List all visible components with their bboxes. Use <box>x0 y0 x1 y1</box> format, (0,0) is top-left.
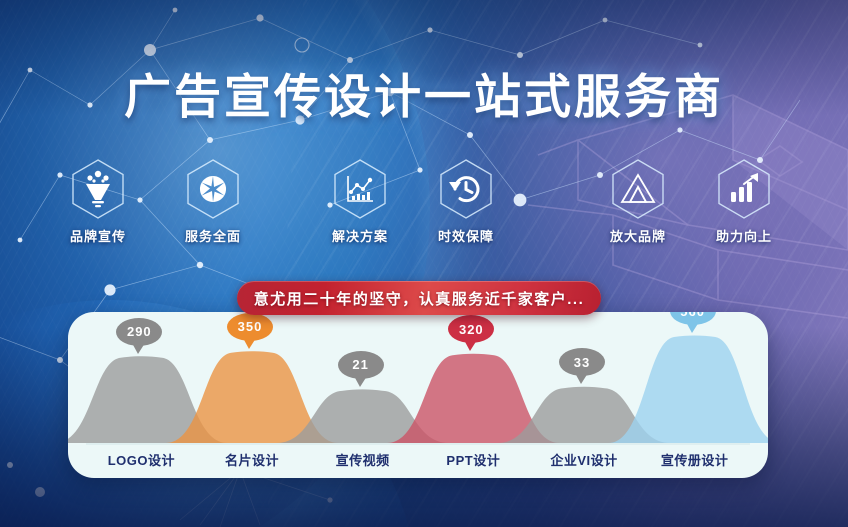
category-label-group: LOGO设计名片设计宣传视频PPT设计企业VI设计宣传册设计 <box>68 446 768 476</box>
feature-item-brand-promotion[interactable]: 品牌宣传 <box>52 158 144 245</box>
tagline-text: 意尤用二十年的坚守，认真服务近千家客户... <box>254 288 585 309</box>
category-label: 企业VI设计 <box>529 450 640 469</box>
value-bubble-tail <box>132 343 145 354</box>
feature-item-boost-upward[interactable]: 助力向上 <box>698 158 790 245</box>
value-bubble-tail <box>354 376 367 387</box>
megaphone-sparkle-icon <box>70 158 126 220</box>
clock-rewind-icon <box>438 158 494 220</box>
mountain-area-5 <box>608 336 768 443</box>
category-label: 宣传视频 <box>307 450 418 469</box>
feature-label: 服务全面 <box>167 226 259 245</box>
feature-icon-row: 品牌宣传 服务全面 <box>0 158 848 250</box>
value-bubble-tail <box>686 322 699 333</box>
tagline-banner: 意尤用二十年的坚守，认真服务近千家客户... <box>237 281 601 315</box>
feature-label: 助力向上 <box>698 226 790 245</box>
value-bubble: 21 <box>338 351 384 379</box>
value-bubble-label: 33 <box>559 348 605 376</box>
bar-chart-arrow-up-icon <box>716 158 772 220</box>
value-bubble: 560 <box>670 312 716 325</box>
feature-label: 品牌宣传 <box>52 226 144 245</box>
camera-aperture-icon <box>185 158 241 220</box>
value-bubble-tail <box>575 373 588 384</box>
value-bubble-tail <box>243 338 256 349</box>
value-bubble-label: 350 <box>227 313 273 341</box>
value-bubble: 320 <box>448 315 494 343</box>
chart-card: 2903502132033560 LOGO设计名片设计宣传视频PPT设计企业VI… <box>68 312 768 478</box>
poster-canvas: 广告宣传设计一站式服务商 品牌宣传 <box>0 0 848 527</box>
feature-item-timeliness[interactable]: 时效保障 <box>420 158 512 245</box>
page-title: 广告宣传设计一站式服务商 <box>0 58 848 127</box>
scatter-chart-icon <box>332 158 388 220</box>
triangle-layers-icon <box>610 158 666 220</box>
feature-label: 时效保障 <box>420 226 512 245</box>
category-label: 宣传册设计 <box>639 450 750 469</box>
category-label: 名片设计 <box>197 450 308 469</box>
value-bubble: 290 <box>116 318 162 346</box>
value-bubble: 33 <box>559 348 605 376</box>
value-bubble-label: 21 <box>338 351 384 379</box>
value-bubble-label: 290 <box>116 318 162 346</box>
feature-item-full-service[interactable]: 服务全面 <box>167 158 259 245</box>
value-bubble-tail <box>464 340 477 351</box>
mountain-area-chart <box>68 312 768 452</box>
chart-baseline <box>86 443 750 445</box>
feature-item-amplify-brand[interactable]: 放大品牌 <box>592 158 684 245</box>
value-bubble: 350 <box>227 313 273 341</box>
feature-label: 解决方案 <box>314 226 406 245</box>
category-label: LOGO设计 <box>86 450 197 469</box>
category-label: PPT设计 <box>418 450 529 469</box>
feature-item-solutions[interactable]: 解决方案 <box>314 158 406 245</box>
feature-label: 放大品牌 <box>592 226 684 245</box>
value-bubble-label: 320 <box>448 315 494 343</box>
